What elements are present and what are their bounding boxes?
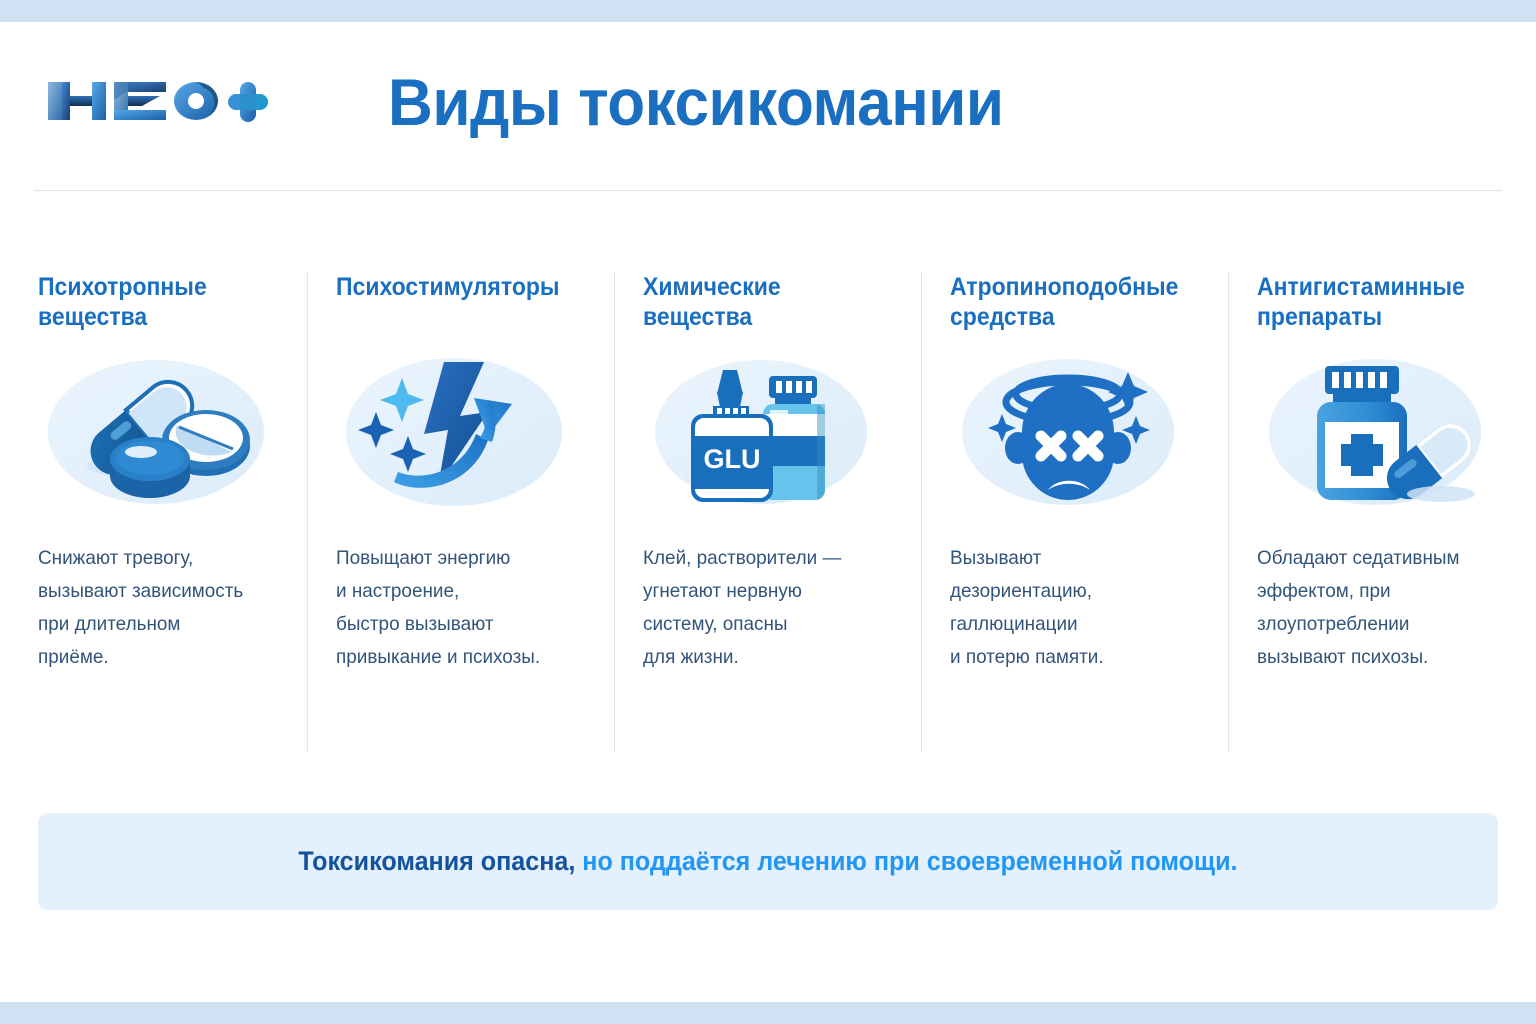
footer-banner: Токсикомания опасна, но поддаётся лечени… [38,813,1498,910]
banner-light-text: но поддаётся лечению при своевременной п… [575,846,1237,876]
neo-plus-logo [48,70,288,132]
pills-capsule-icon [38,354,288,514]
category-chemicals[interactable]: Химические вещества [614,272,921,752]
category-stimulants[interactable]: Психостимуляторы [307,272,614,752]
pill-bottle-capsule-icon [1257,354,1507,514]
glue-label: GLU [704,444,761,474]
banner-text: Токсикомания опасна, но поддаётся лечени… [298,846,1237,877]
category-body: Снижают тревогу, вызывают зависимость пр… [38,542,278,674]
category-title: Антигистаминные препараты [1257,272,1493,336]
category-title: Психостимуляторы [336,272,572,336]
lightning-bolt-arrow-icon [336,354,586,514]
category-body: Клей, растворители — угнетают нервную си… [643,542,891,674]
category-psychotropic[interactable]: Психотропные вещества [0,272,307,752]
category-body: Обладают седативным эффектом, при злоупо… [1257,542,1505,674]
page-title: Виды токсикомании [388,66,1004,138]
glue-solvent-bottles-icon: GLU [643,354,893,514]
category-title: Психотропные вещества [38,272,265,336]
category-title: Атропиноподобные средства [950,272,1186,336]
header-divider [34,190,1502,191]
top-accent-band [0,0,1536,22]
banner-strong-text: Токсикомания опасна, [298,846,575,876]
category-antihistamines[interactable]: Антигистаминные препараты [1228,272,1535,752]
category-body: Повыщают энергию и настроение, быстро вы… [336,542,584,674]
infographic-page: Виды токсикомании Психотропные вещества [0,22,1536,1002]
category-body: Вызывают дезориентацию, галлюцинации и п… [950,542,1198,674]
category-atropine[interactable]: Атропиноподобные средства [921,272,1228,752]
header: Виды токсикомании [0,22,1536,190]
dizzy-face-icon [950,354,1200,514]
bottom-accent-band [0,1002,1536,1024]
category-title: Химические вещества [643,272,879,336]
category-columns: Психотропные вещества [0,272,1536,752]
